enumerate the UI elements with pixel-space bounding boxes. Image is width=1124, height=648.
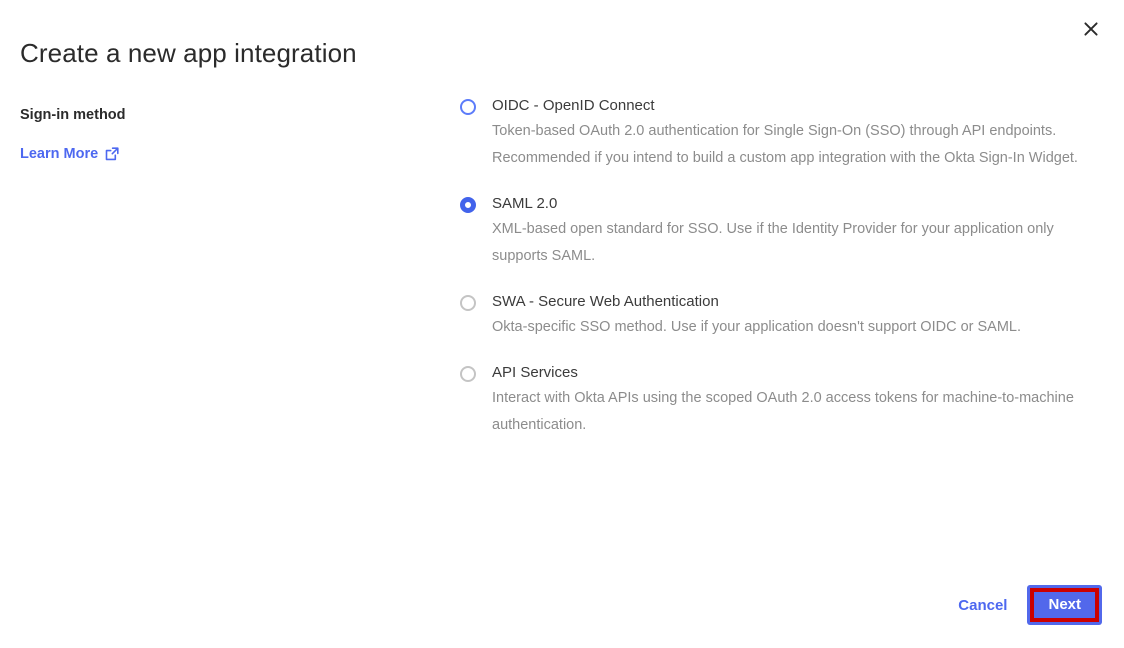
signin-method-column: Sign-in method Learn More (20, 96, 420, 163)
radio-label-api-services: API Services (492, 363, 1103, 383)
dialog-body: Sign-in method Learn More OIDC - OpenID … (0, 96, 1124, 578)
learn-more-link[interactable]: Learn More (20, 145, 119, 163)
create-app-integration-dialog: Create a new app integration Sign-in met… (0, 0, 1124, 648)
cancel-button[interactable]: Cancel (954, 591, 1011, 620)
close-x-glyph (1083, 21, 1099, 37)
learn-more-label: Learn More (20, 145, 98, 163)
radio-option-oidc[interactable]: OIDC - OpenID Connect Token-based OAuth … (458, 96, 1103, 172)
radio-icon-oidc[interactable] (460, 99, 476, 115)
close-icon[interactable] (1076, 14, 1106, 44)
radio-icon-saml[interactable] (460, 197, 476, 213)
next-button[interactable]: Next (1027, 585, 1102, 625)
radio-description-api-services: Interact with Okta APIs using the scoped… (492, 385, 1103, 439)
page-title: Create a new app integration (20, 36, 357, 70)
radio-description-saml: XML-based open standard for SSO. Use if … (492, 216, 1103, 270)
radio-label-saml: SAML 2.0 (492, 194, 1103, 214)
external-link-icon (105, 147, 119, 161)
dialog-footer: Cancel Next (954, 585, 1102, 625)
radio-option-api-services[interactable]: API Services Interact with Okta APIs usi… (458, 363, 1103, 439)
radio-description-swa: Okta-specific SSO method. Use if your ap… (492, 314, 1103, 341)
signin-method-options: OIDC - OpenID Connect Token-based OAuth … (458, 96, 1103, 439)
radio-icon-swa[interactable] (460, 295, 476, 311)
next-button-wrapper: Next (1027, 585, 1102, 625)
radio-label-swa: SWA - Secure Web Authentication (492, 292, 1103, 312)
radio-option-saml[interactable]: SAML 2.0 XML-based open standard for SSO… (458, 194, 1103, 270)
radio-option-swa[interactable]: SWA - Secure Web Authentication Okta-spe… (458, 292, 1103, 341)
radio-description-oidc: Token-based OAuth 2.0 authentication for… (492, 118, 1103, 172)
radio-label-oidc: OIDC - OpenID Connect (492, 96, 1103, 116)
radio-icon-api-services[interactable] (460, 366, 476, 382)
signin-method-label: Sign-in method (20, 96, 420, 125)
